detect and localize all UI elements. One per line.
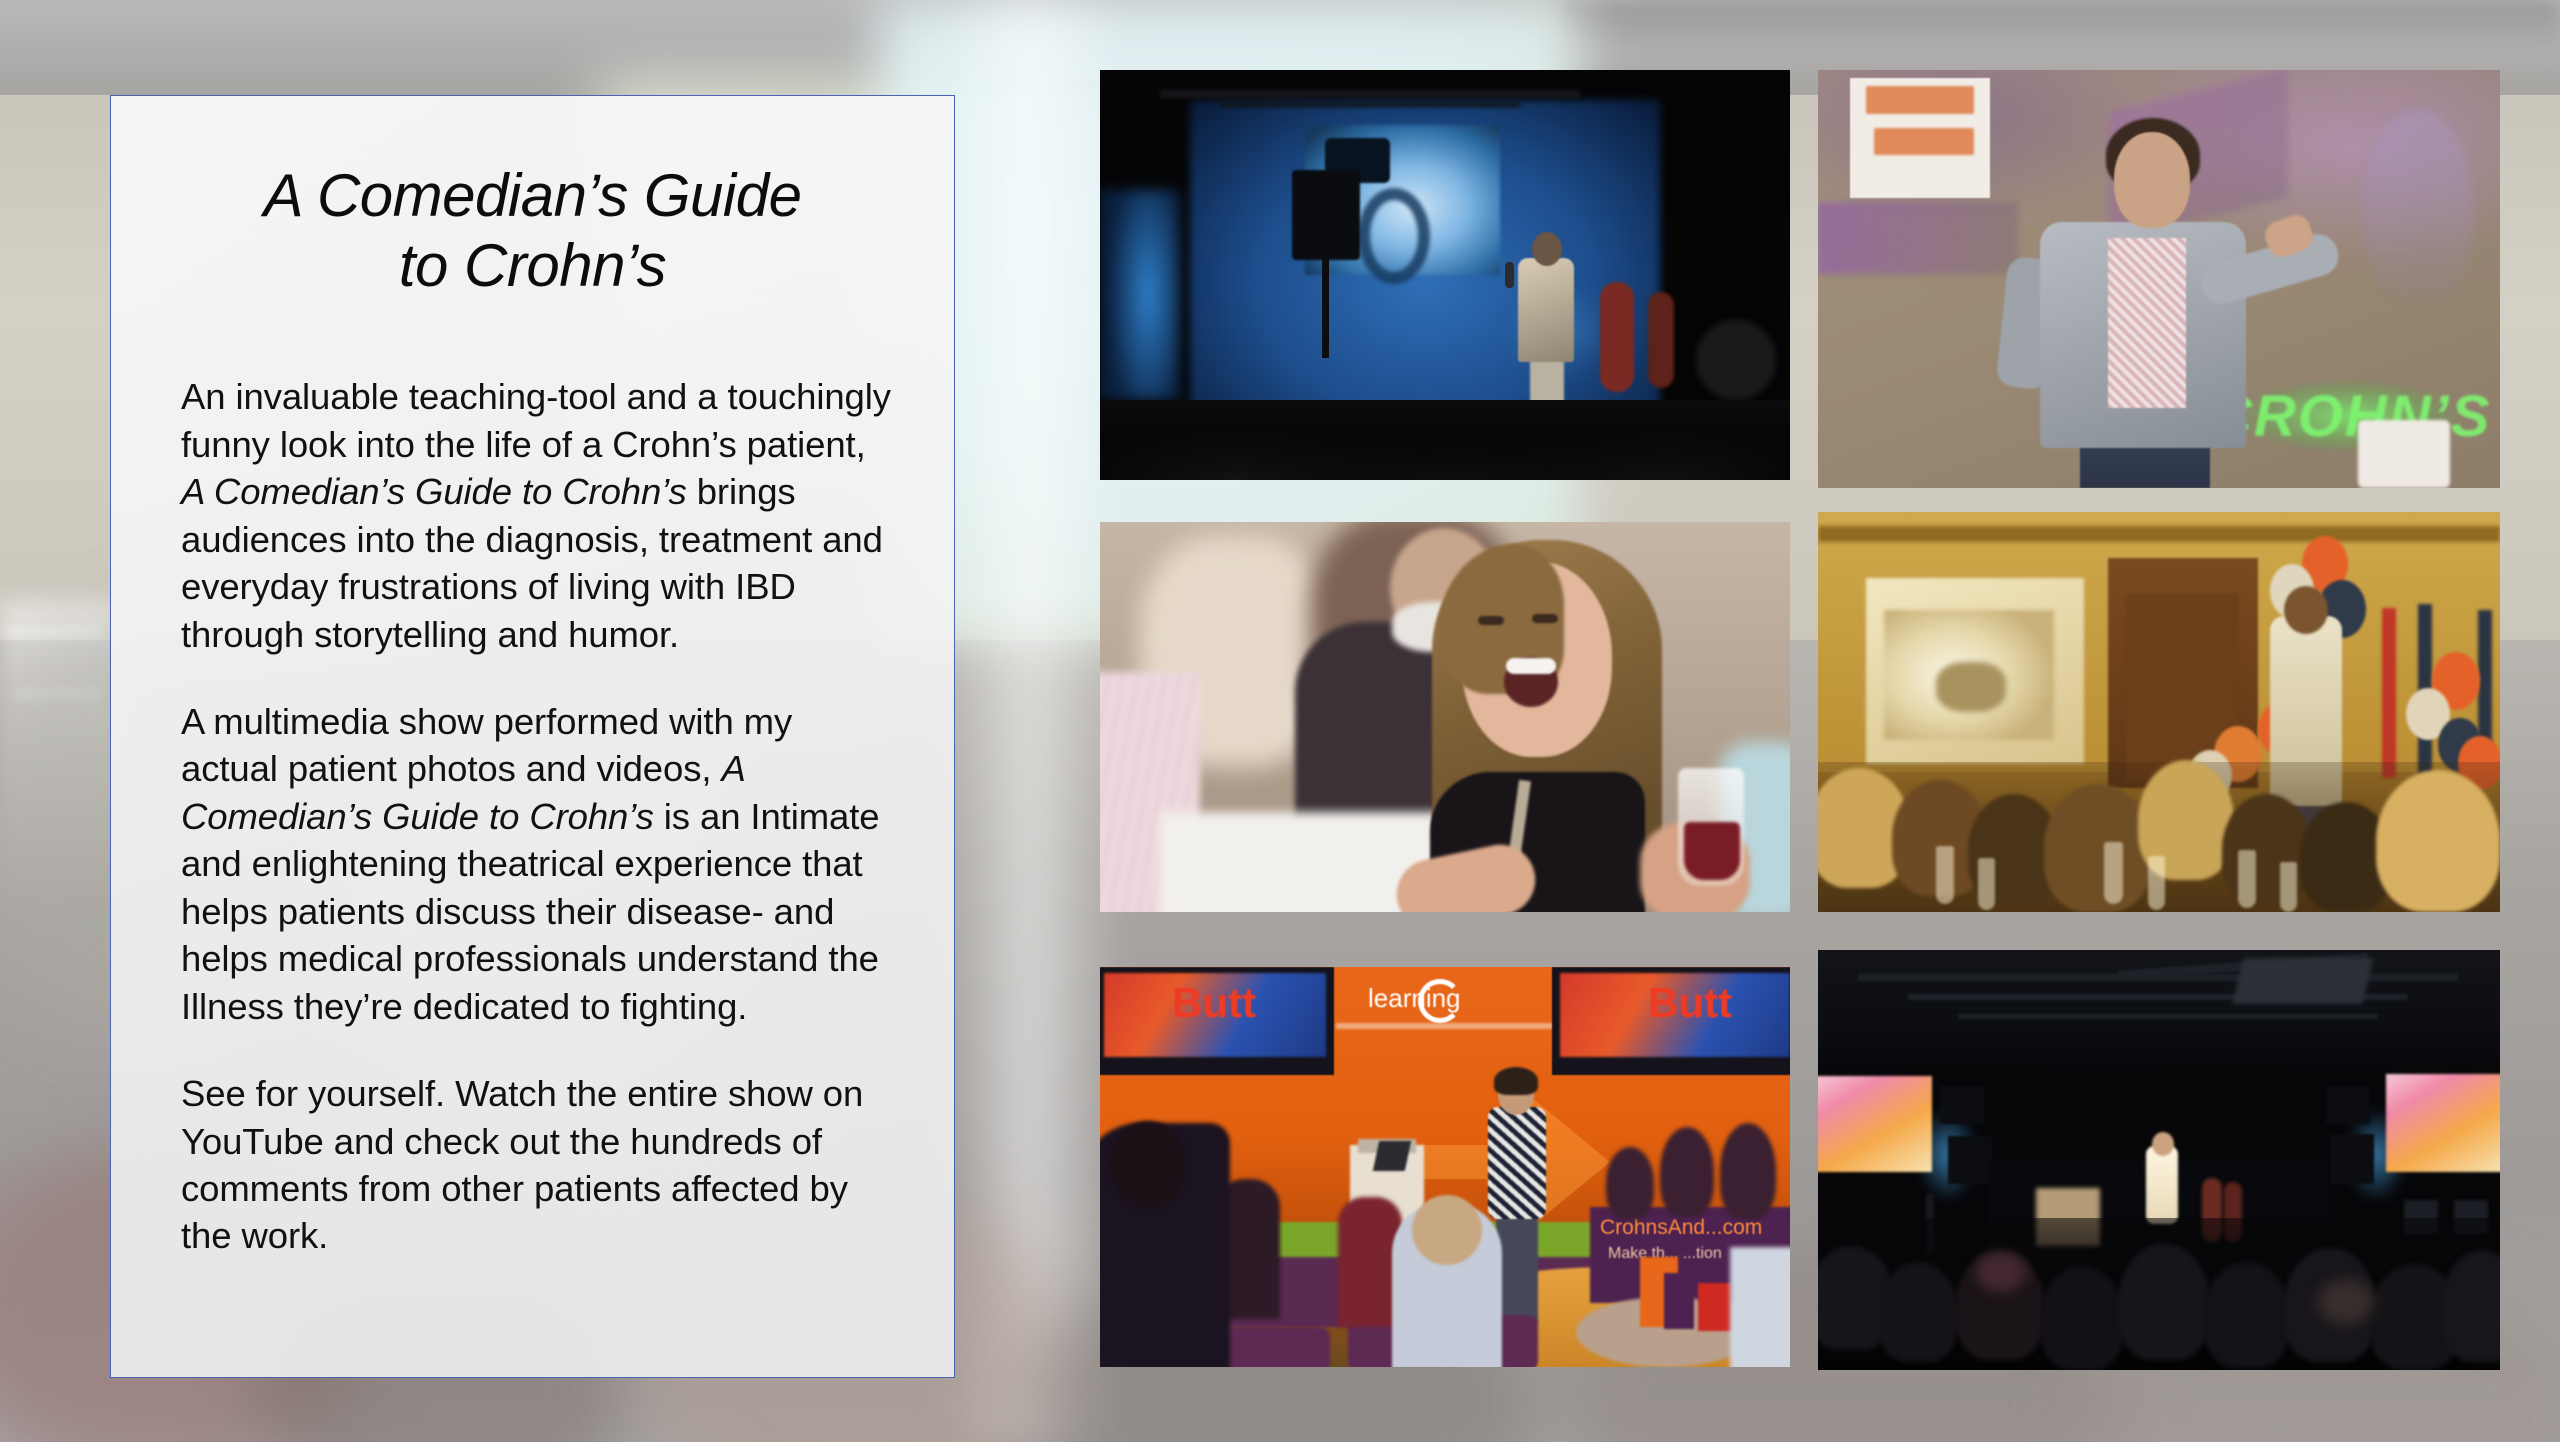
stage-silhouette-1 <box>1606 1147 1654 1219</box>
stage-screen-left-text: Butt <box>1172 981 1312 1025</box>
projected-cone-shape <box>2363 110 2473 300</box>
white-chair <box>2358 420 2450 488</box>
banquet-projected-detail <box>1936 662 2006 712</box>
page-title-line-1: A Comedian’s Guide <box>264 162 802 229</box>
venue-speaker-3 <box>2326 1086 2370 1124</box>
banquet-guest-6 <box>2222 794 2312 906</box>
stage-silhouette-3 <box>1720 1123 1776 1219</box>
performer-head <box>1532 232 1562 266</box>
venue-speaker-2 <box>1948 1136 1992 1184</box>
stage-performer-legs <box>1496 1215 1538 1323</box>
ceiling-pipe-3 <box>1958 1014 2378 1019</box>
venue-audience-highlight-2 <box>2318 1280 2374 1324</box>
banquet-glass-6 <box>2280 862 2297 912</box>
page-title: A Comedian’s Guide to Crohn’s <box>111 96 954 301</box>
performer-body <box>1518 258 1574 362</box>
stage-ribbon-line <box>1336 1023 1576 1029</box>
side-screen-right <box>2386 1074 2500 1172</box>
venue-speaker-4 <box>2330 1134 2374 1184</box>
paragraph-intro: An invaluable teaching-tool and a touchi… <box>181 373 896 658</box>
presentation-slide: A Comedian’s Guide to Crohn’s An invalua… <box>0 0 2560 1442</box>
paragraph-description: A multimedia show performed with my actu… <box>181 698 896 1030</box>
projection-screen-oval <box>1358 188 1430 284</box>
speaker-stand <box>1322 258 1329 358</box>
paragraph-call-to-action: See for yourself. Watch the entire show … <box>181 1070 896 1260</box>
venue-audience-head-2 <box>1878 1262 1958 1362</box>
laughing-woman-eye-right <box>1532 614 1558 623</box>
background-ceiling-right <box>1560 0 2560 60</box>
venue-audience-head-6 <box>2204 1262 2290 1368</box>
banquet-speaker-head <box>2284 586 2328 634</box>
stage-screen-right-text: Butt <box>1648 981 1788 1025</box>
audience-silhouettes <box>1100 370 1790 480</box>
speaker-head <box>2114 132 2190 228</box>
laughing-woman-teeth <box>1506 658 1556 674</box>
learning-logo-text: learning <box>1368 979 1568 1017</box>
photo-middle-left[interactable] <box>1100 522 1790 912</box>
microphone-icon <box>1505 262 1514 288</box>
table-leaflet-2 <box>1664 1273 1694 1329</box>
laughing-woman-eye-left <box>1478 616 1504 625</box>
banquet-glass-5 <box>2238 850 2256 908</box>
projected-purple-strip <box>1818 202 2018 274</box>
laptop-icon <box>1373 1141 1411 1171</box>
venue-audience-highlight-1 <box>1976 1252 2026 1292</box>
banquet-wall-trim <box>1818 526 2500 542</box>
page-title-line-2: to Crohn’s <box>399 232 666 299</box>
venue-performer-head <box>2152 1132 2174 1156</box>
banquet-glass-3 <box>2104 842 2123 904</box>
photo-middle-right[interactable] <box>1818 512 2500 912</box>
description-text-part-1: A multimedia show performed with my actu… <box>181 701 792 789</box>
venue-audience-head-4 <box>2040 1266 2124 1370</box>
photo-gallery: CROHN’S <box>1100 70 2500 1380</box>
stage-silhouette-2 <box>1660 1127 1714 1217</box>
description-body: An invaluable teaching-tool and a touchi… <box>111 373 954 1259</box>
lighting-truss-secondary <box>1220 102 1520 107</box>
intro-show-title: A Comedian’s Guide to Crohn’s <box>181 471 687 512</box>
stage-speaker-cabinet <box>1292 170 1360 260</box>
stage-performer-shirt <box>1488 1107 1546 1219</box>
red-wine <box>1684 822 1740 880</box>
banquet-guest-8 <box>2376 770 2500 912</box>
banquet-guest-4 <box>2044 784 2152 912</box>
banquet-glass-2 <box>1978 858 1995 910</box>
description-panel: A Comedian’s Guide to Crohn’s An invalua… <box>110 95 955 1378</box>
venue-audience-head-5 <box>2118 1244 2210 1360</box>
photo-bottom-left[interactable]: Butt Butt learning CrohnsAnd...com Make … <box>1100 967 1790 1367</box>
photo-bottom-right[interactable] <box>1818 950 2500 1370</box>
speaker-shirt <box>2108 238 2186 408</box>
foreground-attendee-right <box>1730 1247 1790 1367</box>
flag-red <box>2382 608 2396 778</box>
cheap-scopes-sign-line-2 <box>1874 128 1974 155</box>
table-leaflet-3 <box>1698 1283 1732 1331</box>
banquet-glass-4 <box>2148 856 2165 910</box>
banquet-glass-1 <box>1936 846 1954 904</box>
lighting-truss <box>1160 90 1580 98</box>
venue-speaker-1 <box>1940 1086 1984 1124</box>
photo-top-left[interactable] <box>1100 70 1790 480</box>
foreground-attendee-left-head <box>1110 1121 1186 1209</box>
venue-performer-body <box>2146 1146 2178 1224</box>
seated-attendee-head <box>1412 1195 1482 1265</box>
side-screen-left <box>1818 1076 1932 1172</box>
stage-performer-hair <box>1494 1067 1538 1095</box>
stage-blue-wall-left <box>1100 190 1180 400</box>
intro-text-part-1: An invaluable teaching-tool and a touchi… <box>181 376 891 464</box>
call-to-action-text: See for yourself. Watch the entire show … <box>181 1073 863 1256</box>
ceiling-duct <box>2232 958 2373 1004</box>
photo-top-right[interactable]: CROHN’S <box>1818 70 2500 488</box>
cheap-scopes-sign-line-1 <box>1866 86 1974 114</box>
